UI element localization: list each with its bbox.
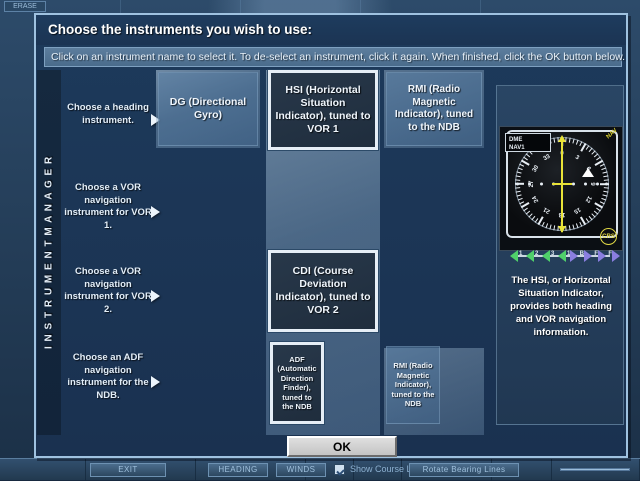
compass-number: 21 — [543, 206, 552, 215]
instrument-preview-pane: 03691215182124273033 DME NAV1 NAV CRS 1 … — [496, 85, 624, 425]
compass-tick — [602, 171, 607, 173]
prompt-column: Choose a heading instrument. Choose a VO… — [62, 70, 154, 435]
course-select-knob[interactable]: CRS — [600, 228, 617, 245]
cdi-dot — [596, 183, 599, 186]
winds-button[interactable]: WINDS — [276, 463, 326, 477]
cdi-dot — [516, 183, 519, 186]
nav-arrow-left-icon-4[interactable] — [558, 250, 566, 262]
course-arrow-tail-icon — [558, 226, 566, 233]
dialog-instructions: Click on an instrument name to select it… — [44, 47, 622, 67]
course-arrow-head-icon — [558, 135, 566, 142]
nav-arrow-right-icon-3[interactable] — [598, 250, 606, 262]
compass-tick — [596, 208, 601, 212]
compass-tick — [516, 191, 521, 193]
nav-button-label-2: 2 — [535, 251, 538, 257]
heading-bug-icon — [582, 168, 594, 177]
heading-button[interactable]: HEADING — [208, 463, 268, 477]
compass-tick — [521, 202, 530, 208]
instrument-manager-dialog: Choose the instruments you wish to use: … — [34, 13, 628, 458]
nav-arrow-right-icon-1[interactable] — [570, 250, 578, 262]
compass-tick — [579, 222, 582, 227]
prompt-heading-text: Choose a heading instrument. — [67, 102, 149, 126]
compass-number: 33 — [543, 154, 552, 163]
compass-tick — [594, 211, 598, 215]
instrument-option-cdi[interactable]: CDI (Course Deviation Indicator), tuned … — [268, 250, 378, 332]
show-course-lines-checkbox[interactable] — [334, 464, 345, 475]
cdi-dot — [540, 183, 543, 186]
instrument-option-adf[interactable]: ADF (Automatic Direction Finder), tuned … — [270, 342, 324, 424]
compass-tick — [604, 187, 609, 188]
hsi-instrument-graphic: 03691215182124273033 DME NAV1 NAV CRS 1 … — [499, 126, 623, 251]
compass-tick — [569, 138, 571, 143]
dialog-title: Choose the instruments you wish to use: — [36, 15, 626, 45]
compass-tick — [549, 224, 551, 229]
compass-tick — [516, 175, 521, 177]
compass-tick — [586, 218, 590, 223]
nav-arrow-left-icon-3[interactable] — [542, 250, 550, 262]
compass-tick — [589, 216, 593, 220]
erase-button[interactable]: ERASE — [4, 1, 46, 12]
compass-number: 24 — [532, 195, 541, 204]
compass-tick — [576, 140, 579, 145]
prompt-vor2: Choose a VOR navigation instrument for V… — [62, 266, 154, 316]
ok-button[interactable]: OK — [287, 436, 397, 457]
compass-tick — [591, 213, 595, 217]
instrument-option-rmi-heading[interactable]: RMI (Radio Magnetic Indicator), tuned to… — [386, 72, 482, 146]
nav-arrow-right-icon-4[interactable] — [612, 250, 620, 262]
compass-tick — [604, 179, 609, 180]
compass-tick — [542, 222, 545, 227]
compass-tick — [576, 223, 579, 228]
toolbar-slider[interactable] — [560, 468, 630, 471]
compass-tick — [602, 194, 607, 196]
instrument-description: The HSI, or Horizontal Situation Indicat… — [501, 274, 621, 339]
nav-arrow-left-icon-1[interactable] — [510, 250, 518, 262]
bottom-toolbar: EXIT HEADING WINDS Show Course Lines Rot… — [0, 458, 640, 480]
hsi-button-row: 1 2 3 1 B F F — [500, 250, 624, 264]
compass-tick — [601, 198, 606, 201]
instrument-option-dg[interactable]: DG (Directional Gyro) — [158, 72, 258, 146]
compass-tick — [553, 225, 555, 230]
dme-label: DME — [509, 136, 550, 144]
exit-button[interactable]: EXIT — [90, 463, 166, 477]
rotate-bearing-lines-button[interactable]: Rotate Bearing Lines — [409, 463, 519, 477]
compass-tick — [545, 223, 548, 228]
prompt-vor2-text: Choose a VOR navigation instrument for V… — [64, 266, 152, 315]
compass-tick — [572, 224, 574, 229]
compass-tick — [523, 157, 528, 161]
instrument-grid: DG (Directional Gyro) HSI (Horizontal Si… — [156, 70, 496, 435]
compass-number: 12 — [584, 195, 593, 204]
compass-tick — [519, 164, 524, 167]
nav-button-label-3: 3 — [551, 251, 554, 257]
compass-number: 30 — [532, 165, 541, 174]
dme-readout: DME NAV1 — [505, 133, 551, 152]
compass-tick — [553, 138, 555, 143]
nav-button-label-1: 1 — [519, 251, 522, 257]
compass-tick — [572, 138, 574, 143]
compass-tick — [515, 187, 520, 188]
compass-tick — [601, 167, 606, 170]
nav-source-label: NAV1 — [509, 144, 550, 152]
aircraft-symbol-icon — [552, 178, 572, 190]
cdi-dot — [605, 183, 608, 186]
prompt-vor1: Choose a VOR navigation instrument for V… — [62, 182, 154, 232]
compass-tick — [516, 171, 521, 173]
prompt-heading: Choose a heading instrument. — [62, 102, 154, 127]
compass-tick — [580, 143, 586, 152]
compass-number: 3 — [574, 155, 580, 162]
compass-tick — [569, 225, 571, 230]
prompt-adf: Choose an ADF navigation instrument for … — [62, 352, 154, 402]
instrument-option-rmi-adf[interactable]: RMI (Radio Magnetic Indicator), tuned to… — [386, 346, 440, 424]
cdi-dot — [572, 183, 575, 186]
compass-tick — [603, 175, 608, 177]
cdi-dot — [584, 183, 587, 186]
nav-arrow-left-icon-2[interactable] — [526, 250, 534, 262]
toolbar-cell — [0, 459, 86, 481]
compass-tick — [600, 164, 605, 167]
compass-tick — [516, 194, 521, 196]
compass-tick — [600, 201, 605, 204]
prompt-vor1-text: Choose a VOR navigation instrument for V… — [64, 182, 152, 231]
instrument-manager-strip-label: I N S T R U M E N T M A N A G E R — [37, 70, 61, 435]
compass-tick — [526, 153, 530, 157]
compass-tick — [515, 179, 520, 180]
instrument-option-hsi[interactable]: HSI (Horizontal Situation Indicator), tu… — [268, 70, 378, 150]
compass-tick — [518, 198, 523, 201]
nav-arrow-right-icon-2[interactable] — [584, 250, 592, 262]
compass-tick — [603, 191, 608, 193]
prompt-adf-text: Choose an ADF navigation instrument for … — [67, 352, 148, 401]
compass-tick — [518, 167, 523, 170]
compass-number: 15 — [573, 206, 582, 215]
instrument-manager-strip: I N S T R U M E N T M A N A G E R — [37, 70, 61, 435]
cdi-dot — [528, 183, 531, 186]
